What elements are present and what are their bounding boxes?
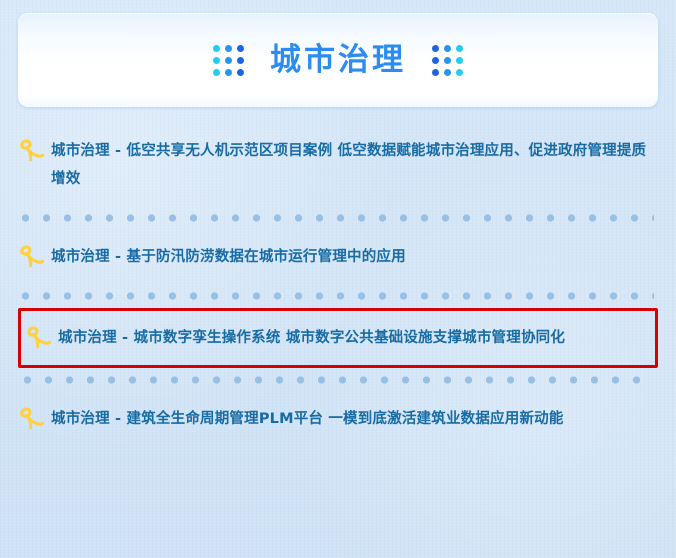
list-item-label: 城市治理 - 建筑全生命周期管理PLM平台 一模到底激活建筑业数据应用新动能 — [51, 405, 564, 433]
list-item[interactable]: 城市治理 - 基于防汛防涝数据在城市运行管理中的应用 — [0, 230, 676, 284]
bird-icon — [18, 406, 44, 430]
list-item-highlighted[interactable]: 城市治理 - 城市数字孪生操作系统 城市数字公共基础设施支撑城市管理协同化 — [18, 308, 658, 368]
header-card: 城市治理 — [18, 13, 658, 107]
dot-grid-icon-right — [432, 45, 463, 76]
list-item-label: 城市治理 - 城市数字孪生操作系统 城市数字公共基础设施支撑城市管理协同化 — [58, 324, 565, 352]
list-divider — [24, 368, 652, 392]
list-item-label: 城市治理 - 低空共享无人机示范区项目案例 低空数据赋能城市治理应用、促进政府管… — [51, 137, 654, 193]
list-item[interactable]: 城市治理 - 建筑全生命周期管理PLM平台 一模到底激活建筑业数据应用新动能 — [0, 392, 676, 446]
page-root: 城市治理 城市治理 - 低空共享无人机示范区项目案例 低空数据赋能城市治理应用、… — [0, 0, 676, 558]
bird-icon — [18, 138, 44, 162]
list-divider — [22, 284, 654, 308]
bird-icon — [18, 244, 44, 268]
list-item[interactable]: 城市治理 - 低空共享无人机示范区项目案例 低空数据赋能城市治理应用、促进政府管… — [0, 124, 676, 206]
topic-list: 城市治理 - 低空共享无人机示范区项目案例 低空数据赋能城市治理应用、促进政府管… — [0, 124, 676, 446]
list-divider — [22, 206, 654, 230]
dot-grid-icon-left — [213, 45, 244, 76]
list-item-label: 城市治理 - 基于防汛防涝数据在城市运行管理中的应用 — [51, 243, 406, 271]
page-title: 城市治理 — [270, 45, 406, 76]
bird-icon — [25, 325, 51, 349]
